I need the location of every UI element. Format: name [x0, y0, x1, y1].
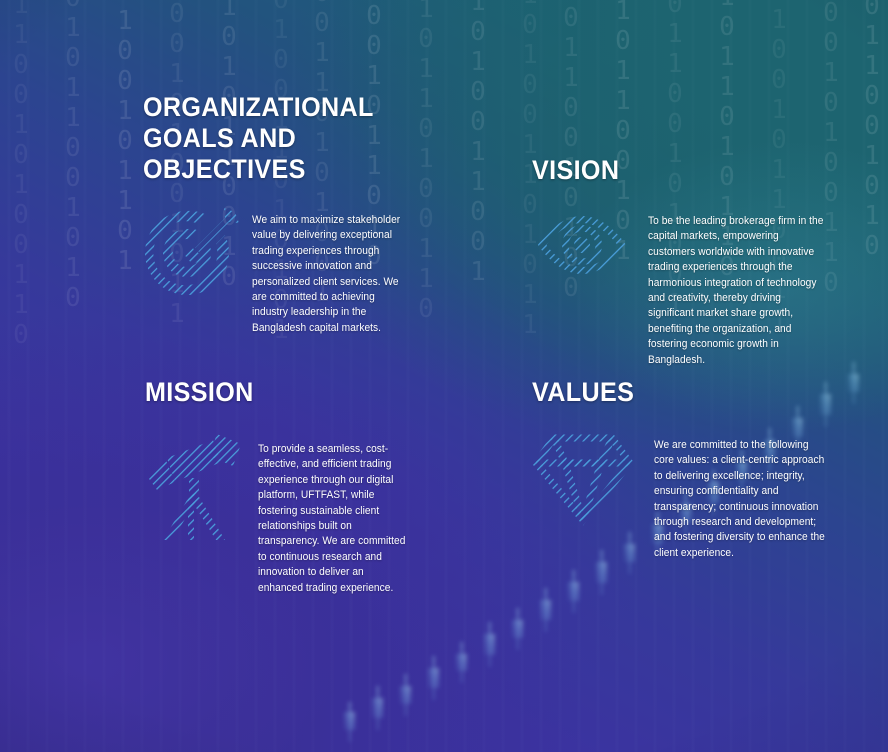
section-values-text: We are committed to the following core v…: [654, 438, 825, 561]
eye-icon: [532, 208, 632, 282]
section-mission-body: To provide a seamless, cost-effective, a…: [145, 432, 415, 596]
section-goals-title: ORGANIZATIONAL GOALS AND OBJECTIVES: [143, 92, 394, 185]
section-mission-title: MISSION: [145, 377, 396, 408]
section-vision-text: To be the leading brokerage firm in the …: [648, 214, 825, 368]
section-values: VALUES: [532, 377, 832, 561]
section-goals-text: We aim to maximize stakeholder value by …: [252, 213, 407, 336]
section-goals-body: We aim to maximize stakeholder value by …: [143, 205, 413, 336]
target-arrow-icon: [143, 205, 241, 303]
telescope-icon: [145, 432, 245, 544]
section-mission-text: To provide a seamless, cost-effective, a…: [258, 442, 409, 596]
section-goals: ORGANIZATIONAL GOALS AND OBJECTIVES: [143, 92, 413, 336]
section-values-body: We are committed to the following core v…: [532, 432, 832, 561]
diamond-gem-icon: [532, 432, 634, 526]
content-root: ORGANIZATIONAL GOALS AND OBJECTIVES: [0, 0, 888, 752]
section-vision: VISION: [532, 155, 832, 368]
section-vision-body: To be the leading brokerage firm in the …: [532, 208, 832, 368]
section-mission: MISSION: [145, 377, 415, 596]
section-values-title: VALUES: [532, 377, 811, 408]
poster-canvas: 0110010100110100101100101001011001011011…: [0, 0, 888, 752]
section-vision-title: VISION: [532, 155, 811, 186]
